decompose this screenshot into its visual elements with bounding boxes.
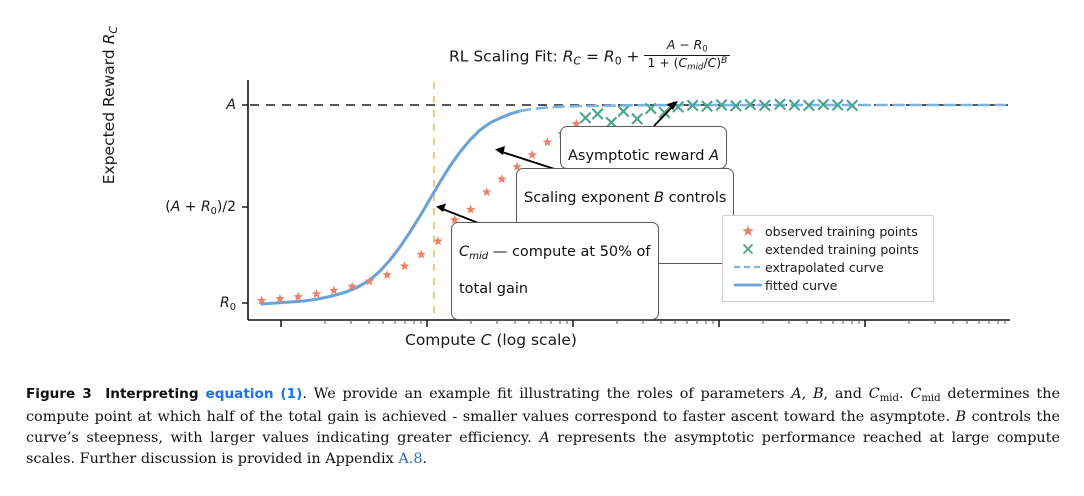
title-sub-0: 0: [615, 55, 622, 68]
title-sub-C: C: [574, 55, 582, 68]
caption-body-1: We provide an example fit illustrating t…: [314, 386, 792, 402]
caption-figure-label: Figure 3: [26, 386, 92, 402]
extended-points-group: [580, 99, 857, 128]
legend-label-fitted: fitted curve: [765, 278, 837, 293]
title-prefix: RL Scaling Fit:: [449, 47, 563, 65]
y-tick-label-R0: R0: [150, 295, 236, 313]
x-marker-icon: [731, 242, 765, 256]
legend-item-extended: extended training points: [731, 240, 925, 258]
chart-title: RL Scaling Fit: RC = R0 + A − R01 + (Cmi…: [449, 38, 749, 74]
x-axis-label: Compute C (log scale): [405, 331, 577, 349]
caption-equation-link[interactable]: equation (1): [206, 386, 303, 402]
y-tick-label-A: A: [150, 97, 236, 113]
dashed-line-icon: [731, 262, 765, 272]
observed-point-marker: [382, 270, 392, 279]
title-eq: =: [581, 47, 604, 65]
title-plus: +: [622, 47, 645, 65]
chart-plot-area: RL Scaling Fit: RC = R0 + A − R01 + (Cmi…: [0, 0, 1084, 370]
legend-label-extrapolated: extrapolated curve: [765, 260, 884, 275]
legend-item-extrapolated: extrapolated curve: [731, 258, 925, 276]
caption-period: .: [302, 386, 313, 402]
figure-3: RL Scaling Fit: RC = R0 + A − R01 + (Cmi…: [0, 0, 1084, 496]
y-axis-ticks: [242, 105, 248, 303]
annotation-cmid-line1: Cmid — compute at 50% of: [459, 244, 651, 263]
annotation-cmid: Cmid — compute at 50% of total gain: [451, 222, 659, 320]
solid-line-icon: [731, 280, 765, 290]
extended-point-marker: [632, 114, 642, 124]
observed-point-marker: [466, 205, 476, 214]
chart-legend: observed training points extended traini…: [722, 215, 934, 302]
title-R: R: [563, 47, 574, 65]
title-numerator: A − R0: [644, 38, 730, 55]
observed-point-marker: [312, 289, 322, 298]
extended-point-marker: [580, 113, 590, 123]
legend-item-fitted: fitted curve: [731, 276, 925, 294]
observed-point-marker: [400, 261, 410, 270]
annotation-scaling-exponent-line1: Scaling exponent B controls: [524, 190, 726, 208]
observed-point-marker: [527, 150, 537, 159]
observed-point-marker: [482, 187, 492, 196]
caption-bold-lead: Interpreting: [105, 386, 205, 402]
caption-appendix-link[interactable]: A.8: [398, 451, 422, 467]
annotation-cmid-line2: total gain: [459, 281, 651, 299]
legend-item-observed: observed training points: [731, 222, 925, 240]
extended-point-marker: [618, 106, 628, 116]
observed-point-marker: [293, 292, 303, 301]
observed-point-marker: [497, 174, 507, 183]
extended-point-marker: [592, 109, 602, 119]
legend-label-extended: extended training points: [765, 242, 919, 257]
title-fraction: A − R01 + (Cmid/C)B: [644, 38, 730, 74]
y-axis-label: Expected Reward RC: [100, 0, 120, 225]
figure-caption: Figure 3 Interpreting equation (1). We p…: [26, 384, 1060, 470]
star-marker-icon: [731, 224, 765, 238]
title-denominator: 1 + (Cmid/C)B: [644, 55, 730, 73]
title-R0: R: [604, 47, 615, 65]
observed-point-marker: [543, 137, 553, 146]
y-tick-label-midpoint: (A + R0)/2: [130, 199, 236, 217]
observed-point-marker: [417, 249, 427, 258]
legend-label-observed: observed training points: [765, 224, 918, 239]
annotation-asymptotic-reward: Asymptotic reward A: [560, 126, 727, 169]
